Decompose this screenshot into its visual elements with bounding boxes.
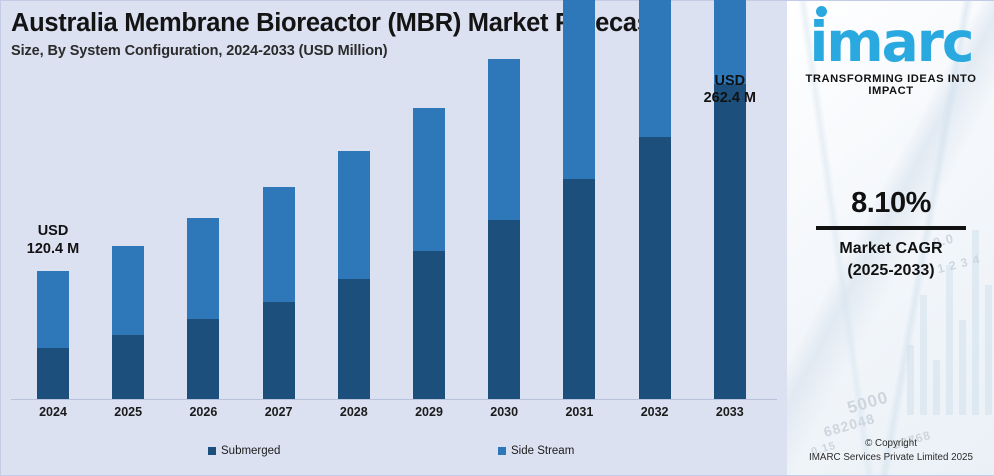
value-callout-first: USD120.4 M — [0, 223, 108, 258]
bar-segment-submerged-2025 — [112, 335, 144, 399]
bar-2028 — [338, 216, 370, 399]
value-callout-first-unit: USD — [0, 223, 108, 240]
plot-area: 2024202520262027202820292030203120322033… — [1, 1, 787, 441]
chart-figure: Australia Membrane Bioreactor (MBR) Mark… — [0, 0, 994, 476]
cagr-value: 8.10% — [787, 187, 994, 220]
legend-item-submerged[interactable]: Submerged — [208, 445, 280, 457]
x-axis-label-2029: 2029 — [399, 405, 459, 419]
cagr-block: 8.10% Market CAGR (2025-2033) — [787, 187, 994, 282]
cagr-divider — [816, 226, 966, 230]
cagr-label-line2: (2025-2033) — [787, 260, 994, 282]
bar-segment-submerged-2032 — [639, 137, 671, 399]
x-axis-label-2033: 2033 — [700, 405, 760, 419]
bar-2030 — [488, 193, 520, 399]
bar-segment-side-stream-2032 — [639, 0, 671, 137]
x-axis-label-2032: 2032 — [625, 405, 685, 419]
x-axis-label-2030: 2030 — [474, 405, 534, 419]
logo-text: imarc — [809, 10, 972, 74]
legend-item-side-stream[interactable]: Side Stream — [498, 445, 574, 457]
bar-segment-submerged-2030 — [488, 220, 520, 399]
bar-2024 — [37, 271, 69, 399]
branding-panel: 5000 0.0 1 2 3 4 682048 22768 0.15 imarc… — [787, 1, 994, 475]
x-axis-label-2024: 2024 — [23, 405, 83, 419]
bar-segment-side-stream-2027 — [263, 187, 295, 302]
logo-tagline: TRANSFORMING IDEAS INTO IMPACT — [787, 73, 994, 97]
copyright-line-1: © Copyright — [787, 437, 994, 451]
bar-segment-side-stream-2031 — [563, 0, 595, 179]
bar-segment-submerged-2026 — [187, 319, 219, 399]
logo-wordmark: imarc — [809, 15, 972, 70]
bar-segment-submerged-2029 — [413, 251, 445, 399]
bar-segment-submerged-2027 — [263, 302, 295, 399]
bar-2031 — [563, 177, 595, 399]
bar-segment-side-stream-2029 — [413, 108, 445, 251]
legend-swatch-icon — [208, 447, 216, 455]
x-axis-label-2027: 2027 — [249, 405, 309, 419]
bar-segment-side-stream-2030 — [488, 59, 520, 220]
value-callout-last: USD262.4 M — [675, 73, 785, 108]
bar-segment-submerged-2024 — [37, 348, 69, 399]
imarc-logo: imarc TRANSFORMING IDEAS INTO IMPACT — [787, 15, 994, 97]
bar-2033 — [714, 121, 746, 399]
bar-2029 — [413, 206, 445, 399]
copyright-notice: © Copyright IMARC Services Private Limit… — [787, 437, 994, 465]
bar-segment-side-stream-2024 — [37, 271, 69, 348]
legend-label: Side Stream — [511, 445, 574, 457]
bar-2027 — [263, 232, 295, 399]
bar-2026 — [187, 247, 219, 399]
x-axis-label-2026: 2026 — [173, 405, 233, 419]
x-axis-label-2031: 2031 — [549, 405, 609, 419]
bar-2025 — [112, 259, 144, 399]
x-axis-label-2025: 2025 — [98, 405, 158, 419]
chart-panel: Australia Membrane Bioreactor (MBR) Mark… — [1, 1, 787, 475]
chart-legend: SubmergedSide Stream — [1, 445, 787, 473]
bar-segment-submerged-2033 — [714, 84, 746, 399]
bar-segment-side-stream-2026 — [187, 218, 219, 319]
legend-label: Submerged — [221, 445, 280, 457]
value-callout-last-value: 262.4 M — [675, 90, 785, 107]
bar-2032 — [639, 155, 671, 399]
value-callout-last-unit: USD — [675, 73, 785, 90]
bar-segment-side-stream-2028 — [338, 151, 370, 279]
bar-segment-submerged-2031 — [563, 179, 595, 399]
x-axis-line — [11, 399, 777, 400]
bar-segment-side-stream-2025 — [112, 246, 144, 335]
bar-segment-submerged-2028 — [338, 279, 370, 399]
x-axis-label-2028: 2028 — [324, 405, 384, 419]
bar-segment-side-stream-2033 — [714, 0, 746, 84]
value-callout-first-value: 120.4 M — [0, 241, 108, 258]
legend-swatch-icon — [498, 447, 506, 455]
cagr-label-line1: Market CAGR — [787, 238, 994, 260]
copyright-line-2: IMARC Services Private Limited 2025 — [787, 451, 994, 465]
